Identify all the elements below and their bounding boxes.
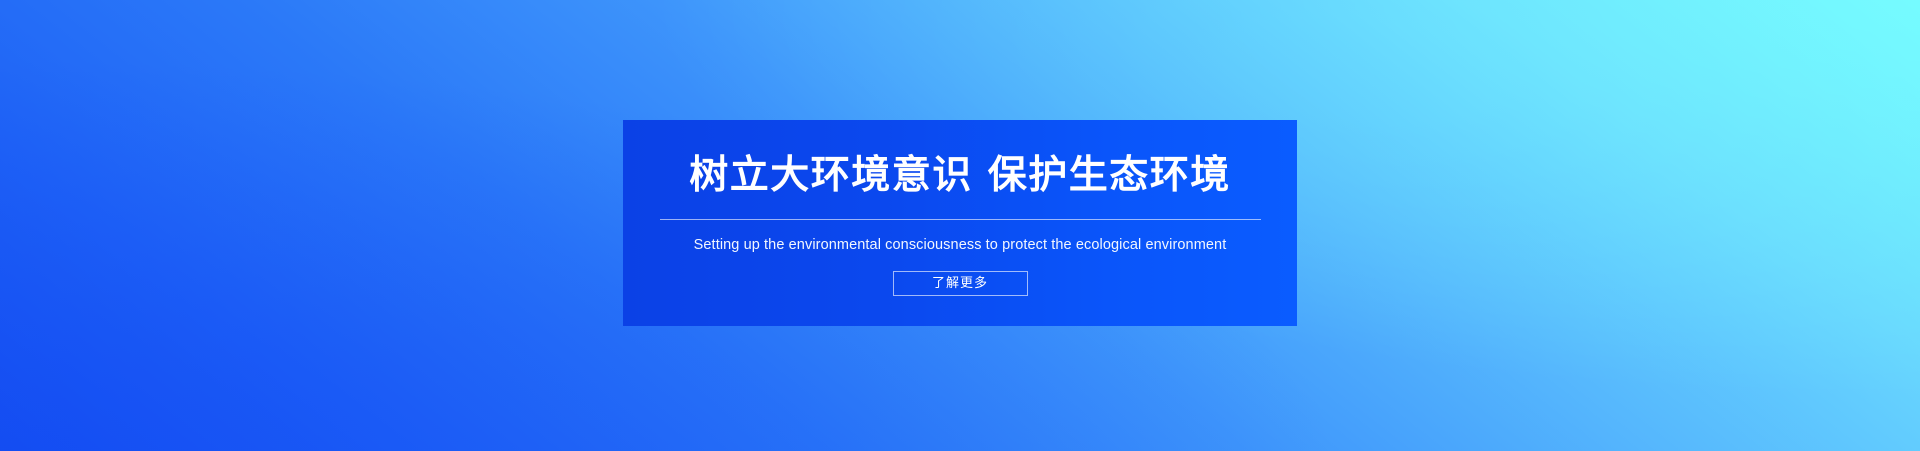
title-divider <box>660 219 1261 220</box>
hero-card: 树立大环境意识 保护生态环境 Setting up the environmen… <box>623 120 1297 326</box>
hero-banner: 树立大环境意识 保护生态环境 Setting up the environmen… <box>0 0 1920 451</box>
hero-subtitle: Setting up the environmental consciousne… <box>694 237 1227 254</box>
page-title: 树立大环境意识 保护生态环境 <box>689 156 1231 195</box>
learn-more-button[interactable]: 了解更多 <box>893 271 1028 296</box>
